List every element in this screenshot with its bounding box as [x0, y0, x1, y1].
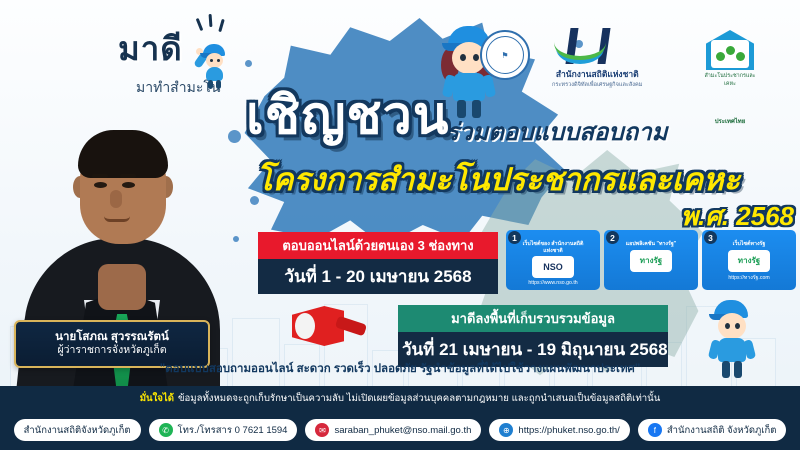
online-response-block: ตอบออนไลน์ด้วยตนเอง 3 ช่องทาง วันที่ 1 -…: [258, 232, 498, 294]
channel-card-3[interactable]: 3 เว็บไซต์ทางรัฐ ทางรัฐ https://ทางรัฐ.c…: [702, 230, 796, 290]
headline-line1: เชิญชวน: [246, 92, 449, 142]
thangrath-logo-icon: ทางรัฐ: [630, 250, 672, 272]
contact-website-label: https://phuket.nso.go.th/: [518, 425, 619, 436]
contact-bar: สำนักงานสถิติจังหวัดภูเก็ต ✆ โทร./โทรสาร…: [0, 410, 800, 450]
channel-url[interactable]: https://www.nso.go.th: [506, 280, 600, 286]
mascot-madee-small: [196, 42, 232, 90]
channel-number: 3: [704, 231, 717, 244]
channel-logo-text: ทางรัฐ: [738, 254, 760, 267]
channel-title: แอปพลิเคชัน "ทางรัฐ": [604, 241, 698, 248]
field-collection-block: มาดีลงพื้นที่เก็บรวบรวมข้อมูล วันที่ 21 …: [398, 305, 668, 367]
splash-dot: [245, 60, 252, 67]
nso-logo-name: สำนักงานสถิติแห่งชาติ: [552, 67, 642, 81]
census-campaign-banner: นายโสภณ สุวรรณรัตน์ ผู้ว่าราชการจังหวัดภ…: [0, 0, 800, 450]
contact-email[interactable]: ✉ saraban_phuket@nso.mail.go.th: [305, 419, 481, 441]
official-name: นายโสภณ สุวรรณรัตน์: [55, 330, 169, 344]
channel-logo-text: NSO: [543, 262, 563, 272]
channel-title: เว็บไซต์ทางรัฐ: [702, 241, 796, 248]
logo-row: ⚑ สำนักงานสถิติแห่งชาติ กระทรวงดิจิทัลเพ…: [480, 26, 796, 94]
channel-number: 1: [508, 231, 521, 244]
channel-card-2[interactable]: 2 แอปพลิเคชัน "ทางรัฐ" ทางรัฐ: [604, 230, 698, 290]
thangrath-logo-icon: ทางรัฐ: [728, 250, 770, 272]
slogan-big: มาดี: [118, 22, 183, 75]
headline-line2: ร่วมตอบแบบสอบถาม: [446, 112, 667, 151]
mail-icon: ✉: [315, 423, 329, 437]
nso-mini-logo-icon: NSO: [532, 256, 574, 278]
globe-icon: ⊕: [499, 423, 513, 437]
headline-line3: โครงการสำมะโนประชากรและเคหะ: [256, 154, 740, 204]
contact-office-label: สำนักงานสถิติจังหวัดภูเก็ต: [24, 423, 131, 438]
online-response-dates: วันที่ 1 - 20 เมษายน 2568: [258, 259, 498, 294]
confidentiality-body: ข้อมูลทั้งหมดจะถูกเก็บรักษาเป็นความลับ ไ…: [178, 391, 660, 406]
contact-phone[interactable]: ✆ โทร./โทรสาร 0 7621 1594: [149, 419, 298, 441]
confidentiality-note: มั่นใจได้ ข้อมูลทั้งหมดจะถูกเก็บรักษาเป็…: [0, 386, 800, 410]
contact-facebook-label: สำนักงานสถิติ จังหวัดภูเก็ต: [667, 423, 777, 438]
sparkle-icon: [196, 14, 232, 38]
channel-card-1[interactable]: 1 เว็บไซต์ของ สำนักงานสถิติแห่งชาติ NSO …: [506, 230, 600, 290]
province-seal-logo: ⚑: [480, 30, 530, 80]
channel-cards: 1 เว็บไซต์ของ สำนักงานสถิติแห่งชาติ NSO …: [506, 230, 796, 290]
online-response-title: ตอบออนไลน์ด้วยตนเอง 3 ช่องทาง: [258, 232, 498, 259]
contact-facebook[interactable]: f สำนักงานสถิติ จังหวัดภูเก็ต: [638, 419, 787, 441]
contact-email-label: saraban_phuket@nso.mail.go.th: [334, 425, 471, 436]
phone-icon: ✆: [159, 423, 173, 437]
official-position: ผู้ว่าราชการจังหวัดภูเก็ต: [57, 344, 166, 358]
channel-title: เว็บไซต์ของ สำนักงานสถิติแห่งชาติ: [506, 241, 600, 254]
channel-url[interactable]: https://ทางรัฐ.com: [702, 274, 796, 282]
contact-office: สำนักงานสถิติจังหวัดภูเก็ต: [14, 419, 141, 441]
nso-logo-ministry: กระทรวงดิจิทัลเพื่อเศรษฐกิจและสังคม: [552, 81, 642, 89]
contact-website[interactable]: ⊕ https://phuket.nso.go.th/: [489, 419, 629, 441]
campaign-quote: "ตอบแบบสอบถามออนไลน์ สะดวก รวดเร็ว ปลอดภ…: [0, 360, 800, 378]
contact-phone-label: โทร./โทรสาร 0 7621 1594: [178, 423, 288, 438]
field-collection-title: มาดีลงพื้นที่เก็บรวบรวมข้อมูล: [398, 305, 668, 332]
channel-number: 2: [606, 231, 619, 244]
megaphone-icon: [292, 300, 368, 356]
channel-logo-text: ทางรัฐ: [640, 254, 662, 267]
headline-group: เชิญชวน ร่วมตอบแบบสอบถาม โครงการสำมะโนปร…: [246, 92, 800, 142]
splash-dot: [233, 236, 239, 242]
facebook-icon: f: [648, 423, 662, 437]
confidentiality-lead: มั่นใจได้: [140, 391, 174, 406]
nso-logo: สำนักงานสถิติแห่งชาติ กระทรวงดิจิทัลเพื่…: [552, 26, 642, 89]
splash-dot: [228, 130, 241, 143]
